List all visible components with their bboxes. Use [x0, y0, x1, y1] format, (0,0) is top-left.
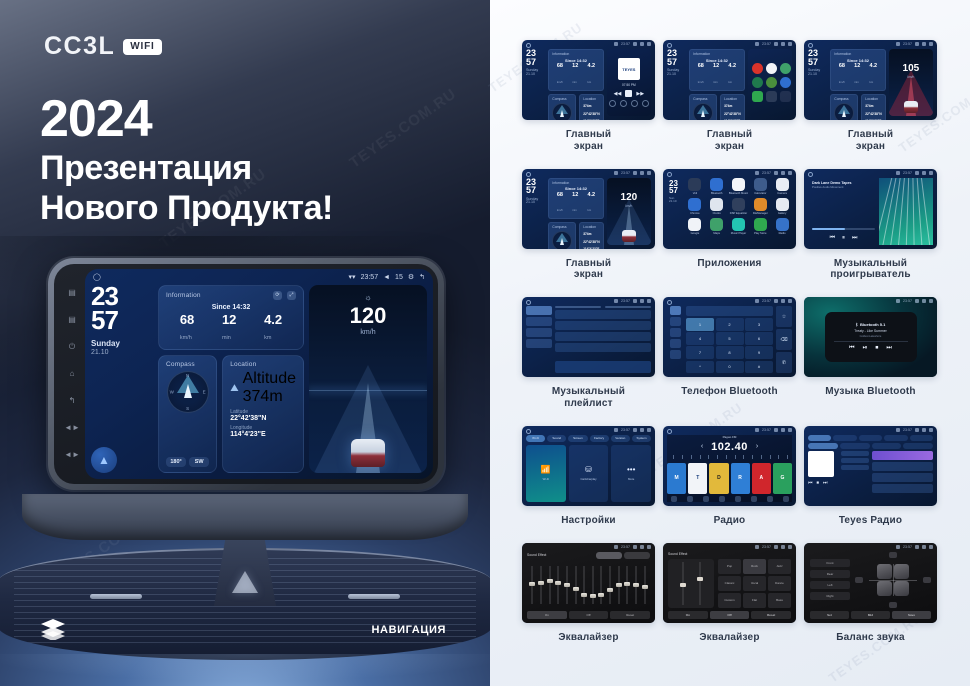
eq-band — [564, 562, 571, 608]
thumbnail-grid: 23:57 2357Sunday21.10 InformationSince 1… — [522, 40, 944, 659]
location-card-title: Location — [230, 361, 296, 368]
dialer-display — [686, 306, 773, 316]
home-indicator-icon — [667, 172, 672, 177]
key: 4 — [686, 332, 714, 345]
status-bar: 23:57 — [755, 428, 792, 432]
now-playing-info: Dark Lane Demo Tapes Positive Audio Move… — [808, 178, 879, 245]
compass-heading-value: 180° — [166, 457, 186, 467]
app-item: Bluetooth Music — [729, 178, 749, 195]
home-indicator-icon[interactable]: ◯ — [93, 273, 343, 281]
location-card: Location 374m 22°42'38"N 114°4'23"E — [720, 94, 744, 121]
backspace-icon: ⌫ — [776, 329, 792, 350]
status-bar: 23:57 — [896, 545, 933, 549]
track-artist: Coldest Lakeshore — [860, 335, 882, 338]
clock-widget: 2357Sunday21.10 — [526, 178, 545, 245]
gear-icon[interactable]: ⚙ — [408, 273, 414, 281]
thumb-music-player[interactable]: 23:57 Dark Lane Demo Tapes Positive Audi… — [804, 169, 937, 249]
location-card[interactable]: Location ⛰ Altitude 374m — [222, 355, 304, 473]
thumbnail-label: Главныйэкран — [804, 129, 937, 153]
thumbnail-label: Музыка Bluetooth — [804, 386, 937, 398]
teyes-tabs[interactable] — [808, 435, 933, 441]
expand-icon[interactable]: ⤢ — [287, 291, 296, 300]
console-lip — [22, 494, 468, 540]
status-bar: 23:57 — [614, 545, 651, 549]
arrow-right-icon[interactable] — [923, 577, 931, 583]
thumbnail-label: Главныйэкран — [522, 258, 655, 282]
thumb-equalizer-bands[interactable]: Sound Effect — [522, 543, 655, 623]
information-card[interactable]: Information ⟳ ⤢ Since 14:32 — [158, 285, 304, 350]
stat-distance: 4.2 km — [264, 313, 282, 344]
balance-pad[interactable] — [855, 552, 931, 608]
app-item: Voli — [685, 178, 705, 195]
call-icon: ✆ — [776, 352, 792, 373]
radio-band-label: Радио FM — [667, 435, 792, 439]
arrow-left-icon[interactable] — [855, 577, 863, 583]
thumb-settings[interactable]: 23:57 Wi-FiSound ScreenFactory VersionSy… — [522, 426, 655, 506]
list-item — [555, 343, 651, 352]
key: 0 — [716, 361, 744, 374]
preset-button: Rear — [810, 570, 850, 578]
stat-value: 68 — [180, 313, 194, 326]
list-item — [872, 462, 933, 471]
status-bar: 23:57 — [614, 42, 651, 46]
mountain-icon: ⛰ — [230, 383, 238, 394]
player-controls[interactable]: ⏮ ⏸ ⏭ — [812, 235, 875, 242]
thumbnail-label: Радио — [663, 515, 796, 527]
app-item: Calculator — [750, 178, 770, 195]
thumbnail-label: Teyes Радио — [804, 515, 937, 527]
thumbnail-label: Приложения — [663, 258, 796, 270]
thumb-teyes-radio[interactable]: 23:57 ⏮⏹⏭ — [804, 426, 937, 506]
location-card: Location 374m 22°42'38"N 114°4'23"E — [579, 94, 603, 121]
location-card: Location 374m 22°42'38"N 114°4'23"E — [579, 222, 603, 249]
status-bar: 23:57 — [896, 299, 933, 303]
music-widget: TEYES 07:50 PM ◀◀▶▶ — [607, 49, 651, 116]
hazard-triangle-icon — [232, 571, 258, 593]
vent-control-right[interactable] — [348, 594, 400, 599]
footer-button: On — [527, 611, 567, 619]
list-item — [555, 332, 651, 341]
thumb-music-playlist[interactable]: 23:57 — [522, 297, 655, 377]
bluetooth-icon: ᛒ — [856, 322, 858, 327]
eq-band — [589, 562, 596, 608]
information-card: InformationSince 14:32 68km/h12min4.2km — [548, 178, 603, 220]
progress-bar[interactable] — [834, 341, 908, 342]
altitude-label: Altitude — [243, 370, 296, 388]
next-icon[interactable]: ⏭ — [886, 345, 891, 352]
gallery-cell[interactable]: 23:57 Wi-FiSound ScreenFactory VersionSy… — [522, 426, 655, 543]
eq-band — [633, 562, 640, 608]
center-console — [0, 494, 490, 686]
speed-panel[interactable]: ☼ 120 km/h — [309, 285, 427, 473]
station-meta — [841, 451, 869, 502]
eq-band — [538, 562, 545, 608]
head-unit-bezel: ▤ ▤ ⏻ ⌂ ↰ ◄► ◄► ◯ ▾▾ 23:57 — [48, 258, 444, 490]
now-playing-bar — [555, 361, 651, 373]
preset-button: Right — [810, 592, 850, 600]
previous-icon: ⏮ — [808, 480, 813, 486]
eq-band — [624, 562, 631, 608]
preset-pads[interactable]: Pop Rock Jazz Classic Vocal Dance Custom… — [718, 559, 791, 608]
clock-day: Sunday — [91, 339, 153, 348]
thumb-home-screen-speed[interactable]: 23:57 2357Sunday21.10 InformationSince 1… — [522, 169, 655, 249]
preset-selector[interactable] — [596, 552, 650, 559]
thumbnail-label: Музыкальныйпроигрыватель — [804, 258, 937, 282]
equalizer-title: Sound Effect — [527, 553, 546, 557]
location-card: Location 374m 22°42'38"N 114°4'23"E — [861, 94, 885, 121]
mic-key[interactable]: ▤ — [68, 316, 76, 324]
compass-needle-icon — [184, 384, 192, 398]
status-bar: 23:57 — [755, 42, 792, 46]
gallery-cell[interactable]: Front Rear Left Right — [804, 543, 937, 660]
speed-value: 105 — [903, 63, 920, 74]
player-controls[interactable]: ⏮ ⏯ ⏹ ⏭ — [849, 345, 892, 352]
stop-icon[interactable]: ⏹ — [875, 345, 878, 352]
bluetooth-title: Bluetooth 5.1 — [860, 322, 885, 327]
volume-down-key[interactable]: ◄► — [64, 424, 80, 432]
compass-card: Compass 180°SW — [548, 222, 576, 249]
equalizer-sliders[interactable] — [527, 562, 650, 608]
stat-value: 12 — [222, 313, 236, 326]
play-pause-icon[interactable]: ⏯ — [863, 345, 868, 352]
thumb-applications[interactable]: 23:57 2357Sun21.10 Voli Bluetooth Blueto… — [663, 169, 796, 249]
equalizer-footer[interactable]: On Off Reset — [527, 611, 650, 619]
player-controls[interactable]: ⏮⏹⏭ — [808, 480, 838, 486]
equalizer-footer[interactable]: On Off Reset — [668, 611, 791, 619]
head-unit-side-keys[interactable]: ▤ ▤ ⏻ ⌂ ↰ ◄► ◄► — [59, 269, 85, 479]
information-card: InformationSince 14:32 68km/h12min4.2km — [830, 49, 885, 91]
gallery-cell[interactable]: 23:57 2357Sunday21.10 InformationSince 1… — [522, 169, 655, 298]
home-indicator-icon — [526, 172, 531, 177]
key: 9 — [745, 346, 773, 359]
altitude-value: 374m — [243, 388, 296, 406]
speed-value: 120 — [350, 303, 387, 329]
information-card-title: Information — [166, 292, 201, 299]
status-bar: 23:57 — [614, 428, 651, 432]
preset: D — [709, 463, 728, 494]
app-item: Music Player — [729, 218, 749, 235]
volume-icon[interactable]: ◄ — [383, 274, 390, 281]
app-item: Play Store — [750, 218, 770, 235]
next-icon[interactable]: ⏭ — [852, 235, 857, 242]
status-bar: 23:57 — [755, 545, 792, 549]
status-bar: ◯ ▾▾ 23:57 ◄ 15 ⚙ ↰ — [85, 269, 433, 285]
playlist-sidebar[interactable] — [526, 306, 552, 373]
information-card: InformationSince 14:32 68km/h12min4.2km — [689, 49, 744, 91]
list-item — [555, 321, 651, 330]
clock-date: 21.10 — [91, 349, 153, 356]
screenshot-gallery-panel: TEYES.COM.RU TEYES.COM.RU TEYES.COM.RU T… — [490, 0, 970, 686]
thumb-radio[interactable]: 23:57 Радио FM ‹ 102.40 › — [663, 426, 796, 506]
status-bar: 23:57 — [896, 428, 933, 432]
chevron-left-icon[interactable]: ‹ — [701, 443, 703, 450]
previous-icon[interactable]: ⏮ — [830, 235, 835, 242]
car-dashboard-photo: ▤ ▤ ⏻ ⌂ ↰ ◄► ◄► ◯ ▾▾ 23:57 — [0, 236, 490, 686]
stat-unit: min — [222, 335, 231, 341]
preset: R — [731, 463, 750, 494]
radio-toolbar[interactable] — [667, 496, 792, 502]
navigation-arrow-icon[interactable]: ▲ — [91, 447, 117, 473]
clock-widget: 2357Sunday21.10 — [526, 49, 545, 116]
preset-pad: Bass — [768, 593, 791, 608]
compass-card-title: Compass — [166, 361, 209, 368]
logo-text: CC3L — [44, 32, 115, 61]
footer-label: НАВИГАЦИЯ — [372, 624, 446, 636]
thumb-sound-balance[interactable]: Front Rear Left Right — [804, 543, 937, 623]
compass-card[interactable]: Compass N S W E — [158, 355, 217, 473]
presentation-slide: TEYES.COM.RU TEYES.COM.RU TEYES.COM.RU C… — [0, 0, 970, 686]
tab: Version — [611, 435, 630, 442]
gallery-cell[interactable]: 23:57 ⏮⏹⏭ — [804, 426, 937, 543]
eq-band — [529, 562, 536, 608]
preset: T — [688, 463, 707, 494]
gallery-cell[interactable]: ᛒBluetooth 5.1 Treaty - Like Summer Cold… — [804, 297, 937, 426]
next-icon: ⏭ — [823, 480, 828, 486]
gallery-cell[interactable]: 23:57 2357Sunday21.10 InformationSince 1… — [804, 40, 937, 169]
teyes-subtabs[interactable] — [808, 443, 933, 449]
key: 5 — [716, 332, 744, 345]
speed-panel: 120 km/h — [607, 178, 651, 245]
key: 8 — [716, 346, 744, 359]
refresh-icon[interactable]: ⟳ — [273, 291, 282, 300]
dialer-keypad[interactable]: 123 456 789 *0# — [686, 318, 773, 373]
vent-control-left[interactable] — [90, 594, 142, 599]
settings-card: ⛁Car&Carplay — [569, 445, 609, 502]
status-time: 23:57 — [361, 274, 379, 281]
footer-button: Off — [710, 611, 750, 619]
status-bar: 23:57 — [896, 42, 933, 46]
previous-icon[interactable]: ⏮ — [849, 345, 854, 352]
eq-band — [641, 562, 648, 608]
gallery-cell[interactable]: Sound Effect — [522, 543, 655, 660]
gallery-cell[interactable]: 23:57 123 456 789 *0# — [663, 297, 796, 426]
clock-minutes: 57 — [91, 309, 153, 333]
pause-icon[interactable]: ⏸ — [842, 235, 845, 242]
gallery-cell[interactable]: 23:57 Радио FM ‹ 102.40 › — [663, 426, 796, 543]
station-list[interactable] — [872, 451, 933, 502]
radio-presets[interactable]: M T D R A G — [667, 463, 792, 494]
eq-band — [598, 562, 605, 608]
album-art: ⏮⏹⏭ — [808, 451, 838, 502]
fader-group[interactable] — [668, 559, 714, 608]
preset: M — [667, 463, 686, 494]
headlight-icon: ☼ — [364, 293, 371, 302]
compass-card: Compass 180°SW — [830, 94, 858, 121]
thumbnail-label: Музыкальныйплейлист — [522, 386, 655, 410]
compass-south-label: S — [186, 406, 189, 411]
balance-presets[interactable]: Front Rear Left Right — [810, 552, 850, 608]
latitude-value: 22°42'38"N — [230, 415, 296, 422]
home-indicator-icon — [667, 300, 672, 305]
status-bar: 23:57 — [614, 171, 651, 175]
thumb-bluetooth-music[interactable]: ᛒBluetooth 5.1 Treaty - Like Summer Cold… — [804, 297, 937, 377]
radio-tuning-dial[interactable] — [667, 455, 792, 461]
preset-pad: Vocal — [743, 576, 766, 591]
preset-button: Left — [810, 581, 850, 589]
chevron-right-icon[interactable]: › — [756, 443, 758, 450]
volume-level: 15 — [395, 274, 403, 281]
tab: Wi-Fi — [526, 435, 545, 442]
footer-button: Set — [810, 611, 849, 619]
home-indicator-icon — [526, 429, 531, 434]
thumb-home-screen-apps[interactable]: 23:57 2357Sunday21.10 InformationSince 1… — [663, 40, 796, 120]
carplay-icon: ⛁ — [585, 465, 592, 474]
app-item: Bluetooth — [707, 178, 727, 195]
key: # — [745, 361, 773, 374]
tab: Sound — [547, 435, 566, 442]
star-icon: ☆ — [776, 306, 792, 327]
settings-tabs[interactable]: Wi-FiSound ScreenFactory VersionSystem — [526, 435, 651, 442]
thumb-home-screen-speed-red[interactable]: 23:57 2357Sunday21.10 InformationSince 1… — [804, 40, 937, 120]
key: * — [686, 361, 714, 374]
app-item: Clocks — [707, 198, 727, 215]
speed-panel: 105 km/h — [889, 49, 933, 116]
clock-widget: 2357Sunday21.10 — [667, 49, 686, 116]
page-title: 2024 Презентация Нового Продукта! — [40, 92, 333, 227]
list-item — [872, 484, 933, 493]
app-item: Maps — [707, 218, 727, 235]
gallery-cell[interactable]: 23:57 2357Sun21.10 Voli Bluetooth Blueto… — [663, 169, 796, 298]
preset-pad: Jazz — [768, 559, 791, 574]
watermark: TEYES.COM.RU — [347, 85, 460, 171]
preset-pad: Custom — [718, 593, 741, 608]
key: 6 — [745, 332, 773, 345]
console-highlight — [0, 654, 490, 686]
compass-east-label: E — [203, 390, 206, 395]
settings-cards[interactable]: 📶Wi-Fi ⛁Car&Carplay •••More — [526, 445, 651, 502]
list-item — [872, 473, 933, 482]
key: 1 — [686, 318, 714, 331]
hero-title-line-1: Презентация — [40, 149, 333, 187]
gallery-cell[interactable]: 23:57 Музыкальныйплейл — [522, 297, 655, 426]
preset: G — [773, 463, 792, 494]
track-artist: Positive Audio Movement — [812, 185, 875, 189]
footer-button: Reset — [751, 611, 791, 619]
thumb-bluetooth-phone[interactable]: 23:57 123 456 789 *0# — [663, 297, 796, 377]
gallery-cell[interactable]: 23:57 Dark Lane Demo Tapes Positive Audi… — [804, 169, 937, 298]
app-shortcuts-widget — [748, 49, 792, 116]
eq-band — [555, 562, 562, 608]
footer-button: Save — [892, 611, 931, 619]
preset: A — [752, 463, 771, 494]
home-indicator-icon — [808, 172, 813, 177]
compass-dial: N S W E — [167, 371, 209, 413]
home-indicator-icon — [526, 300, 531, 305]
preset-pad: Classic — [718, 576, 741, 591]
preset-pad: Flat — [743, 593, 766, 608]
playlist-items[interactable] — [555, 306, 651, 373]
equalizer-title: Sound Effect — [668, 552, 687, 556]
eq-band — [607, 562, 614, 608]
arrow-down-icon[interactable] — [889, 602, 897, 608]
thumbnail-label: Эквалайзер — [522, 632, 655, 644]
preset-button: Front — [810, 559, 850, 567]
app-item: Google — [685, 218, 705, 235]
footer-button: On — [668, 611, 708, 619]
eq-band — [615, 562, 622, 608]
footer-button: Reset — [610, 611, 650, 619]
speed-value: 120 — [621, 192, 638, 203]
tab: Factory — [590, 435, 609, 442]
clock-widget: 2357Sunday21.10 — [808, 49, 827, 116]
speed-unit: km/h — [907, 75, 914, 79]
app-item: Chrome — [685, 198, 705, 215]
footer-button: Off — [569, 611, 609, 619]
gallery-cell[interactable]: 23:57 2357Sunday21.10 InformationSince 1… — [522, 40, 655, 169]
progress-bar[interactable] — [812, 228, 875, 230]
compass-card: Compass 180°SW — [548, 94, 576, 121]
app-item: DSP Equalizer — [729, 198, 749, 215]
car-render — [351, 439, 385, 467]
head-unit-screen[interactable]: ◯ ▾▾ 23:57 ◄ 15 ⚙ ↰ — [85, 269, 433, 479]
thumb-equalizer-presets[interactable]: Sound Effect Pop Rock Jazz Clas — [663, 543, 796, 623]
hero-year: 2024 — [40, 92, 333, 147]
settings-card: •••More — [611, 445, 651, 502]
eq-band — [546, 562, 553, 608]
longitude-value: 114°4'23"E — [230, 431, 296, 438]
thumbnail-label: Баланс звука — [804, 632, 937, 644]
home-key[interactable]: ⌂ — [70, 370, 75, 378]
thumbnail-label: Главныйэкран — [522, 129, 655, 153]
dialer-actions[interactable]: ☆⌫✆ — [776, 306, 792, 373]
power-key[interactable]: ⏻ — [69, 343, 75, 351]
product-logo: CC3L WIFI — [44, 32, 162, 61]
compass-west-label: W — [170, 390, 174, 395]
information-card: InformationSince 14:32 68km/h12min4.2km — [548, 49, 603, 91]
visualizer — [879, 178, 933, 245]
stat-unit: km/h — [180, 335, 192, 341]
fader — [681, 562, 685, 605]
back-arrow-icon[interactable]: ↰ — [419, 273, 425, 281]
wifi-icon[interactable]: ▾▾ — [349, 273, 356, 281]
thumbnail-label: Главныйэкран — [663, 129, 796, 153]
phone-sidebar[interactable] — [667, 306, 683, 373]
gallery-cell[interactable]: Sound Effect Pop Rock Jazz Clas — [663, 543, 796, 660]
home-indicator-icon — [667, 429, 672, 434]
thumb-home-screen-music[interactable]: 23:57 2357Sunday21.10 InformationSince 1… — [522, 40, 655, 120]
compass-north-label: N — [186, 373, 189, 378]
status-bar: 23:57 — [614, 299, 651, 303]
arrow-up-icon[interactable] — [889, 552, 897, 558]
preset-pad: Dance — [768, 576, 791, 591]
stop-icon: ⏹ — [817, 480, 820, 486]
wifi-badge: WIFI — [123, 39, 161, 55]
app-item: Camera — [772, 178, 792, 195]
volume-up-key[interactable]: ◄► — [64, 451, 80, 459]
app-item: Radio — [772, 218, 792, 235]
fader — [698, 562, 702, 605]
menu-key[interactable]: ▤ — [68, 289, 76, 297]
back-key[interactable]: ↰ — [69, 397, 76, 405]
thumbnail-label: Эквалайзер — [663, 632, 796, 644]
hero-panel: TEYES.COM.RU TEYES.COM.RU TEYES.COM.RU C… — [0, 0, 490, 686]
tab: System — [632, 435, 651, 442]
status-bar: 23:57 — [755, 171, 792, 175]
thumbnail-label: Телефон Bluetooth — [663, 386, 796, 398]
balance-footer[interactable]: Set Mid Save — [810, 611, 931, 619]
status-bar: 23:57 — [896, 171, 933, 175]
stat-value: 4.2 — [264, 313, 282, 326]
radio-frequency: 102.40 — [711, 441, 748, 453]
wifi-icon: 📶 — [541, 465, 551, 474]
gallery-cell[interactable]: 23:57 2357Sunday21.10 InformationSince 1… — [663, 40, 796, 169]
key: 7 — [686, 346, 714, 359]
list-item — [555, 310, 651, 319]
app-grid[interactable]: Voli Bluetooth Bluetooth Music Calculato… — [667, 178, 792, 235]
clock-widget: 2357Sun21.10 — [669, 180, 678, 203]
stat-duration: 12 min — [222, 313, 236, 344]
app-item: FileManager — [750, 198, 770, 215]
